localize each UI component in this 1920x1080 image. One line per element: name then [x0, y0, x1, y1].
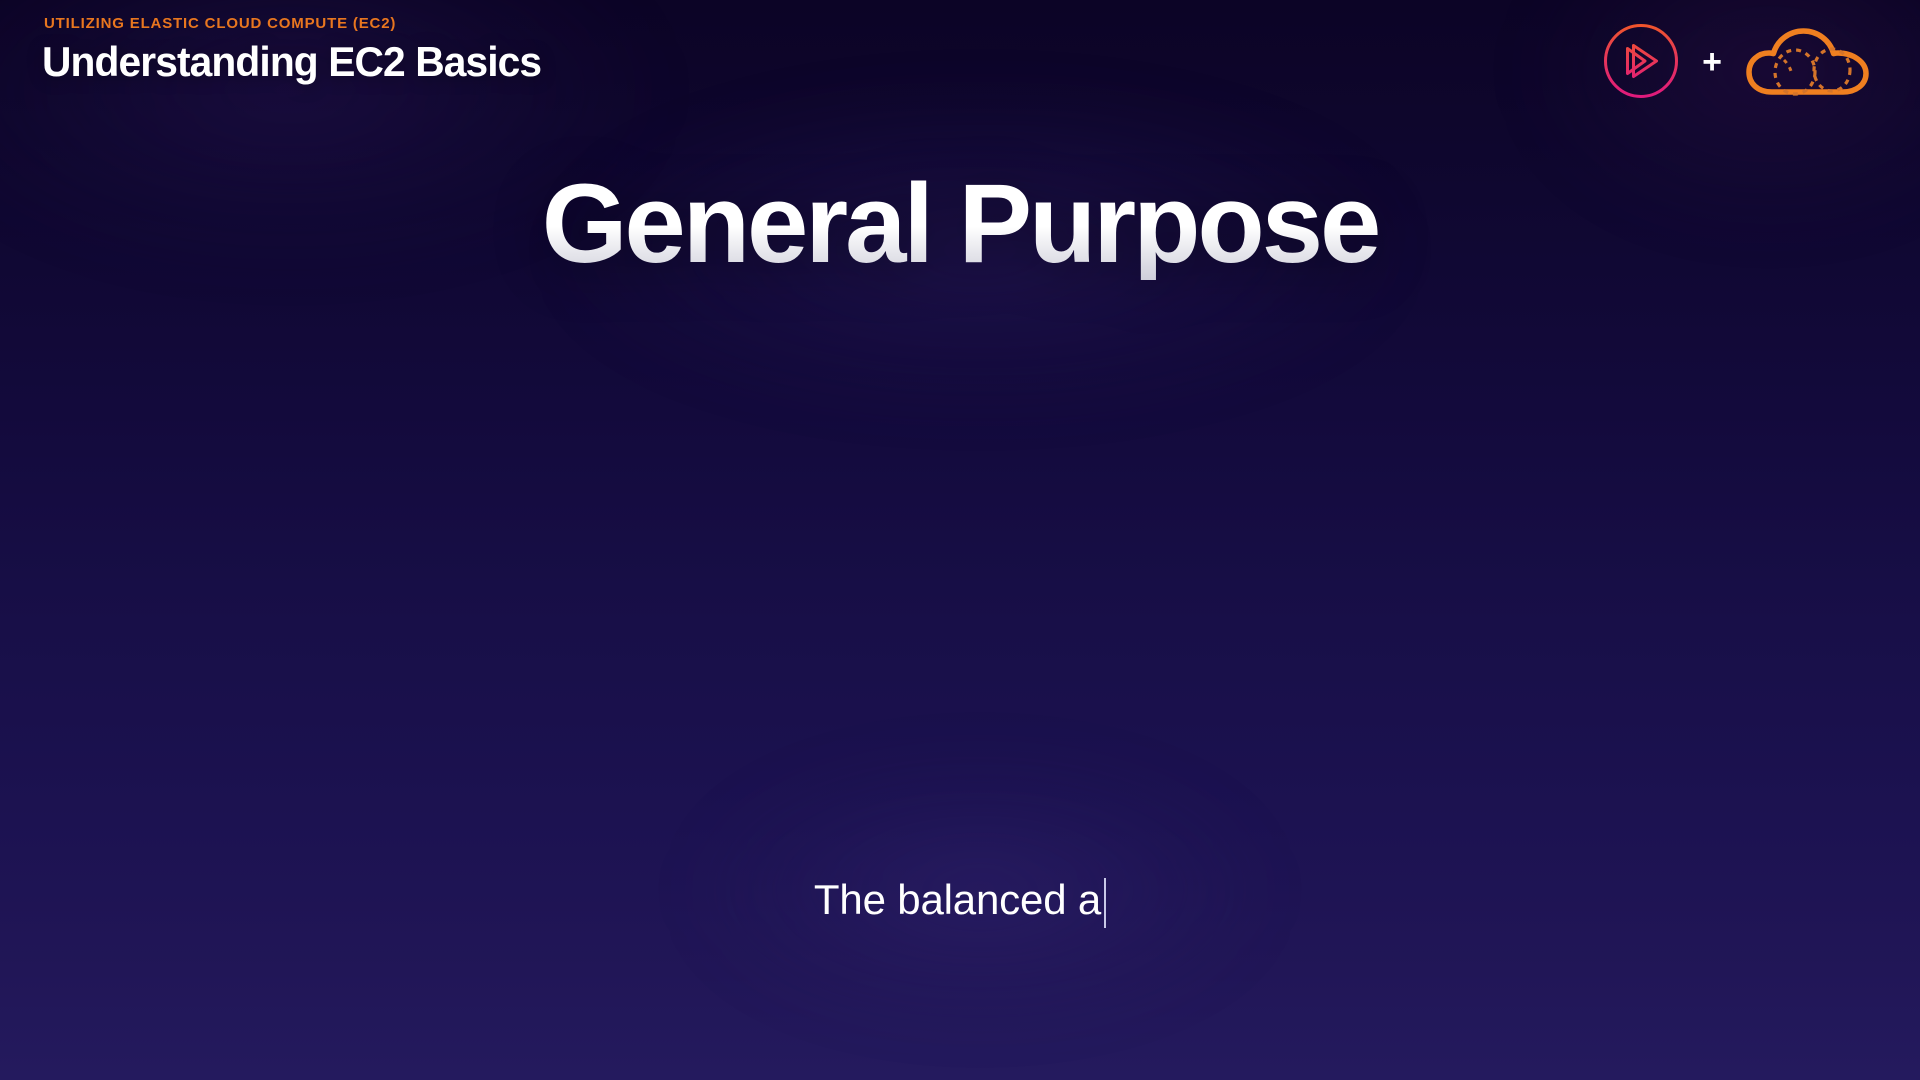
subtitle-text: The balanced a: [814, 879, 1101, 921]
slide-canvas: UTILIZING ELASTIC CLOUD COMPUTE (EC2) Un…: [0, 0, 1920, 1080]
typing-caret-icon: [1104, 878, 1106, 928]
brand-lockup: +: [1602, 20, 1872, 102]
slide-header: UTILIZING ELASTIC CLOUD COMPUTE (EC2) Un…: [42, 16, 557, 84]
plus-icon: +: [1702, 45, 1722, 79]
main-title: General Purpose: [14, 168, 1905, 280]
subtitle-row: The balanced a: [0, 872, 1920, 928]
cloud-outline-icon: [1744, 20, 1872, 102]
header-title: Understanding EC2 Basics: [42, 40, 541, 84]
header-eyebrow: UTILIZING ELASTIC CLOUD COMPUTE (EC2): [44, 16, 557, 31]
play-circle-icon: [1602, 22, 1680, 100]
